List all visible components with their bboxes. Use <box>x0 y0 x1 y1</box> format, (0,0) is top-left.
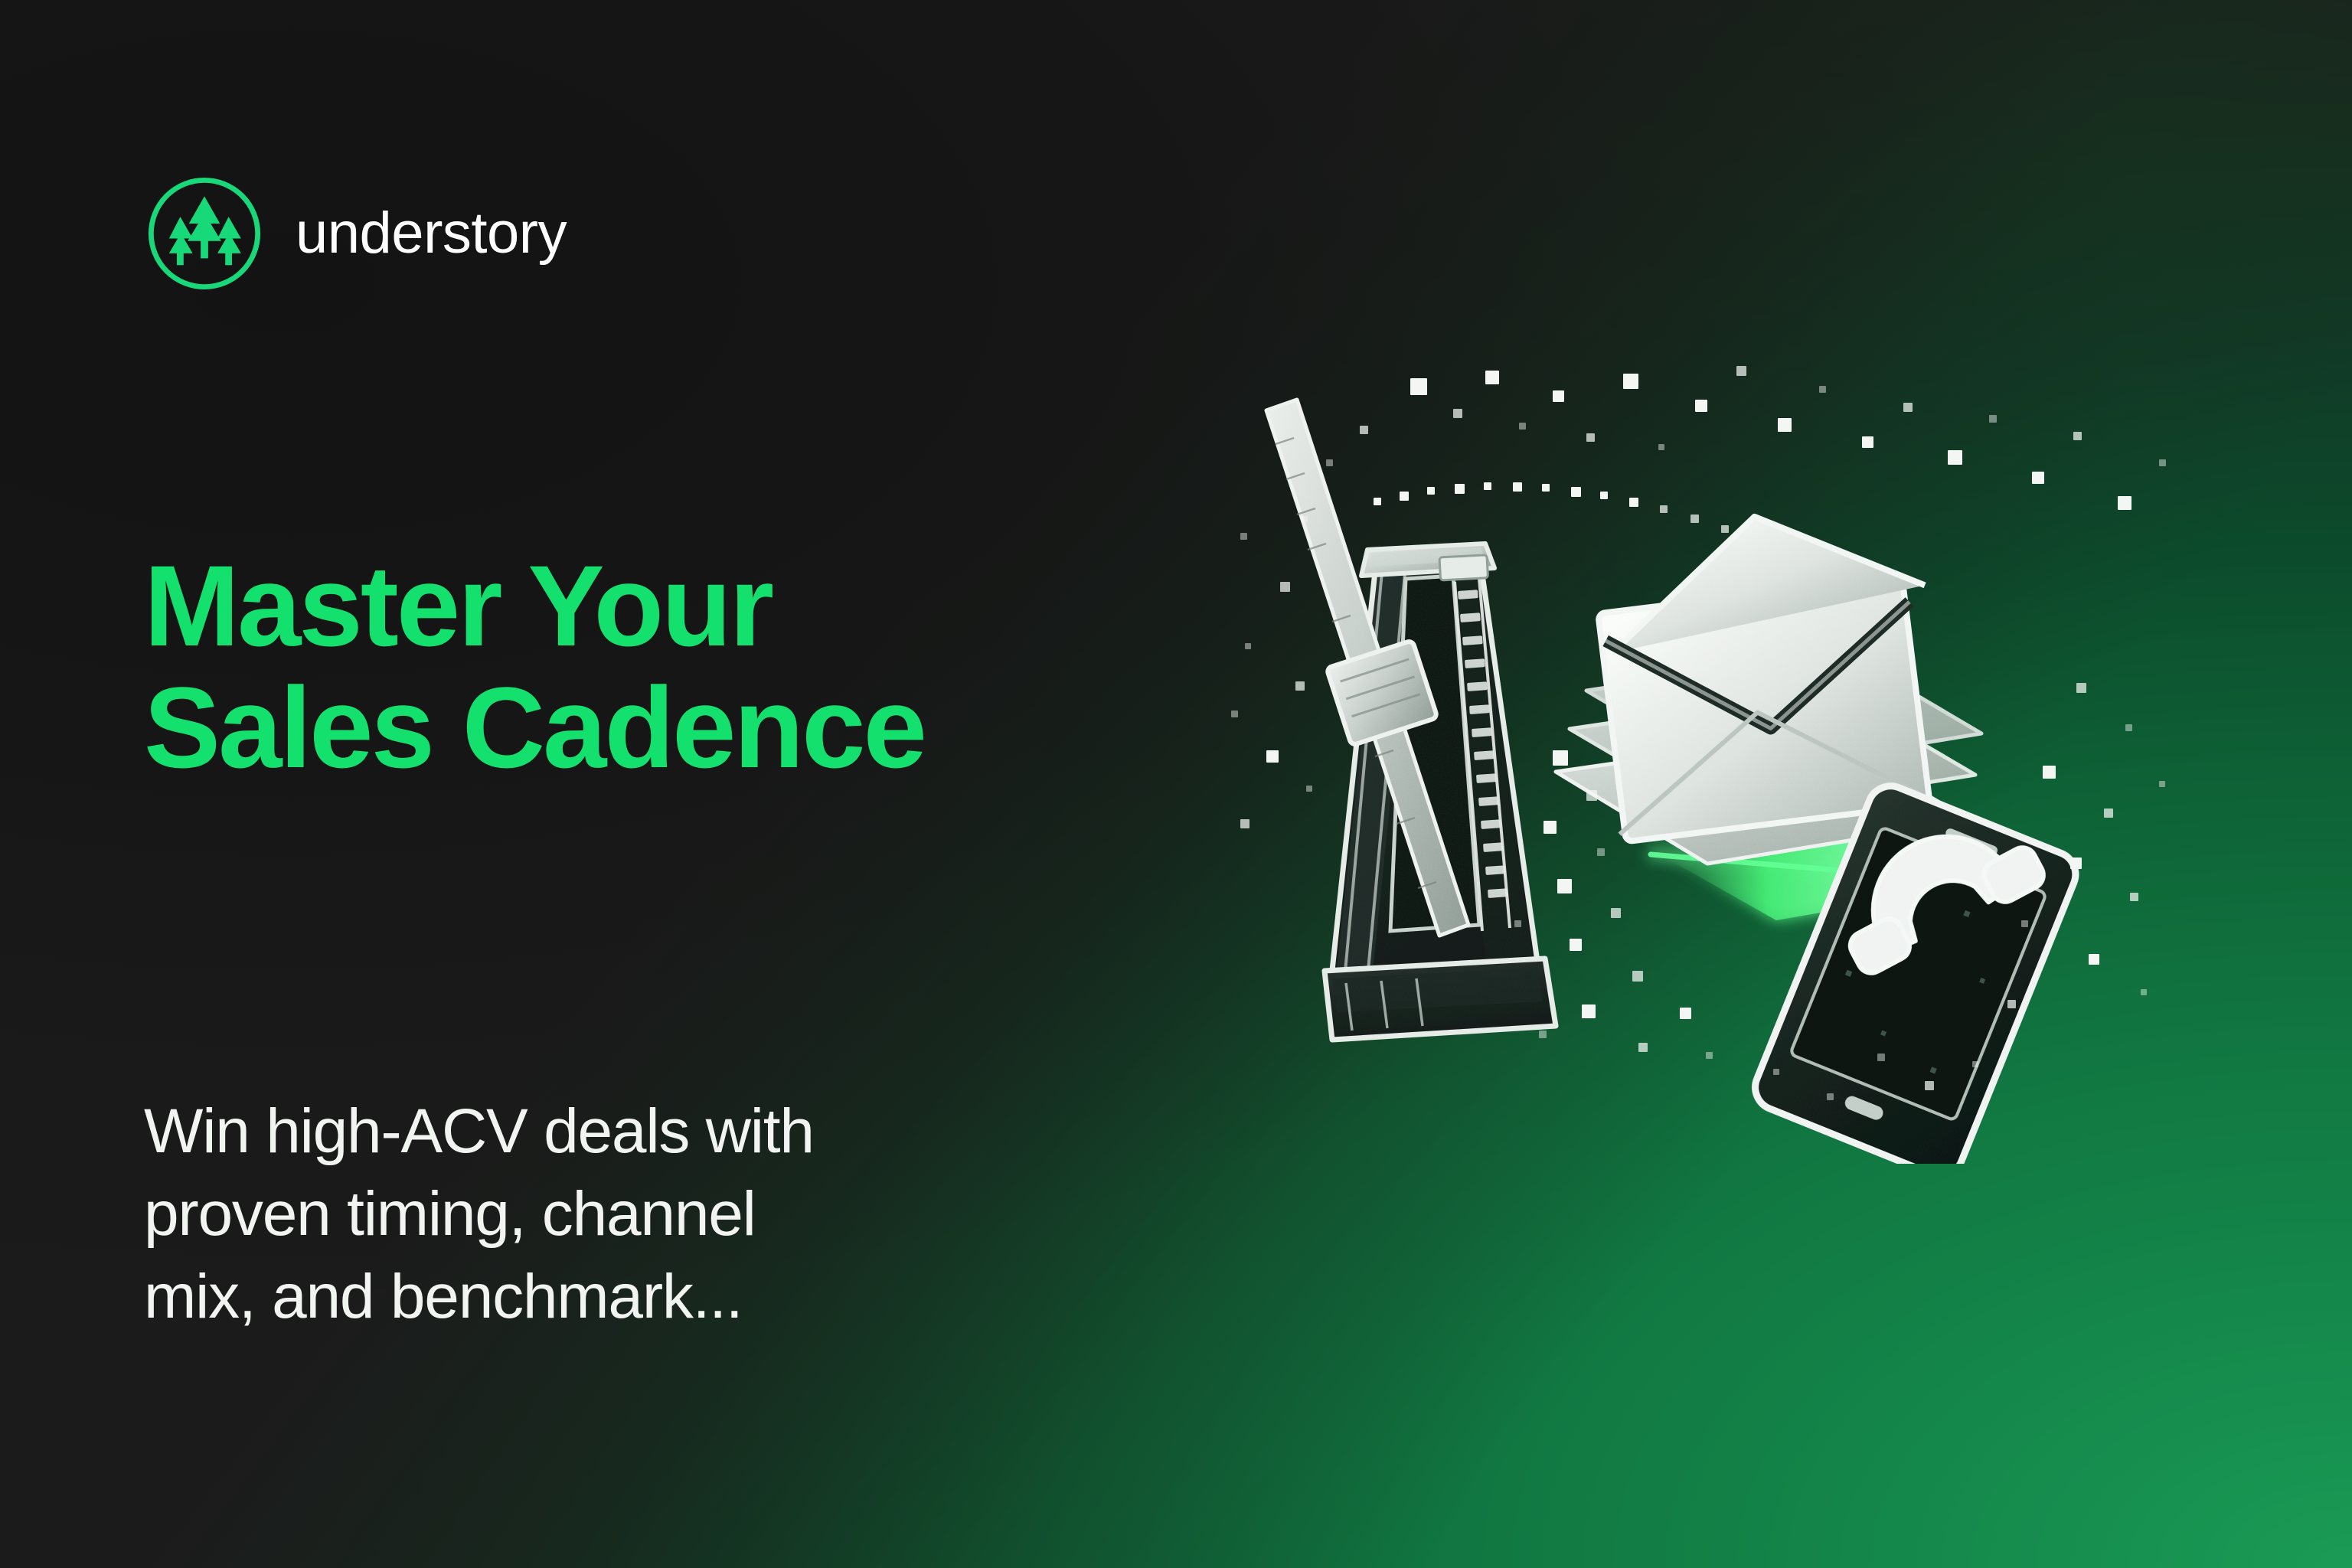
brand-logo-lockup[interactable]: understory <box>142 171 567 296</box>
subtitle-line-3: mix, and benchmark... <box>144 1256 1155 1338</box>
hero-subtitle: Win high-ACV deals with proven timing, c… <box>144 1090 1155 1339</box>
hero-headline: Master Your Sales Cadence <box>144 545 1231 789</box>
headline-line-2: Sales Cadence <box>144 667 1231 789</box>
hero-illustration <box>1210 352 2228 1164</box>
brand-wordmark: understory <box>296 204 567 263</box>
subtitle-line-1: Win high-ACV deals with <box>144 1090 1155 1173</box>
headline-line-1: Master Your <box>144 545 1231 667</box>
three-trees-in-circle-icon <box>142 171 266 296</box>
subtitle-line-2: proven timing, channel <box>144 1173 1155 1256</box>
hero-canvas: understory Master Your Sales Cadence Win… <box>0 0 2352 1568</box>
